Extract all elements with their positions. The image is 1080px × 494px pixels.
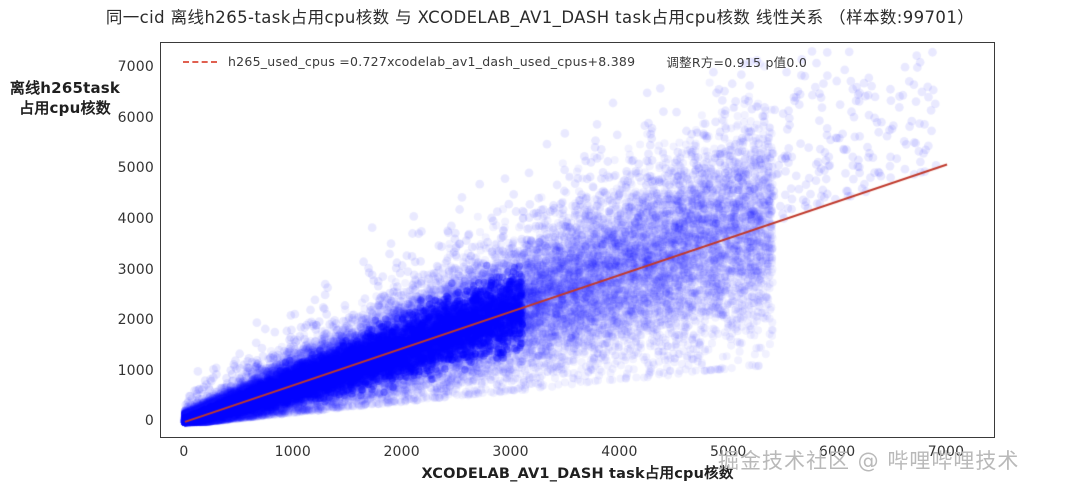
y-axis-tick-4000: 4000 <box>96 211 154 227</box>
x-axis-tick-7000: 7000 <box>901 444 991 460</box>
y-axis-tick-labels: 01000200030004000500060007000 <box>94 42 154 438</box>
y-axis-tick-5000: 5000 <box>96 160 154 176</box>
y-axis-tick-2000: 2000 <box>96 312 154 328</box>
x-axis-tick-6000: 6000 <box>792 444 882 460</box>
y-axis-tick-3000: 3000 <box>96 262 154 278</box>
legend-equation-label: h265_used_cpus =0.727xcodelab_av1_dash_u… <box>228 54 635 69</box>
plot-area[interactable]: h265_used_cpus =0.727xcodelab_av1_dash_u… <box>160 42 995 438</box>
y-axis-tick-0: 0 <box>96 413 154 429</box>
scatter-plot-canvas <box>161 43 995 438</box>
x-axis-tick-1000: 1000 <box>248 444 338 460</box>
x-axis-tick-2000: 2000 <box>357 444 447 460</box>
x-axis-tick-labels: 01000200030004000500060007000 <box>160 444 995 464</box>
legend-stats-label: 调整R方=0.915 p值0.0 <box>666 52 807 71</box>
x-axis-tick-0: 0 <box>139 444 229 460</box>
chart-title: 同一cid 离线h265-task占用cpu核数 与 XCODELAB_AV1_… <box>0 7 1080 29</box>
x-axis-tick-5000: 5000 <box>683 444 773 460</box>
y-axis-tick-6000: 6000 <box>96 110 154 126</box>
x-axis-tick-3000: 3000 <box>466 444 556 460</box>
y-axis-tick-7000: 7000 <box>96 59 154 75</box>
chart-legend: h265_used_cpus =0.727xcodelab_av1_dash_u… <box>183 52 807 71</box>
x-axis-tick-4000: 4000 <box>574 444 664 460</box>
y-axis-tick-1000: 1000 <box>96 363 154 379</box>
legend-dash-icon <box>183 61 217 63</box>
x-axis-label: XCODELAB_AV1_DASH task占用cpu核数 <box>160 462 995 483</box>
